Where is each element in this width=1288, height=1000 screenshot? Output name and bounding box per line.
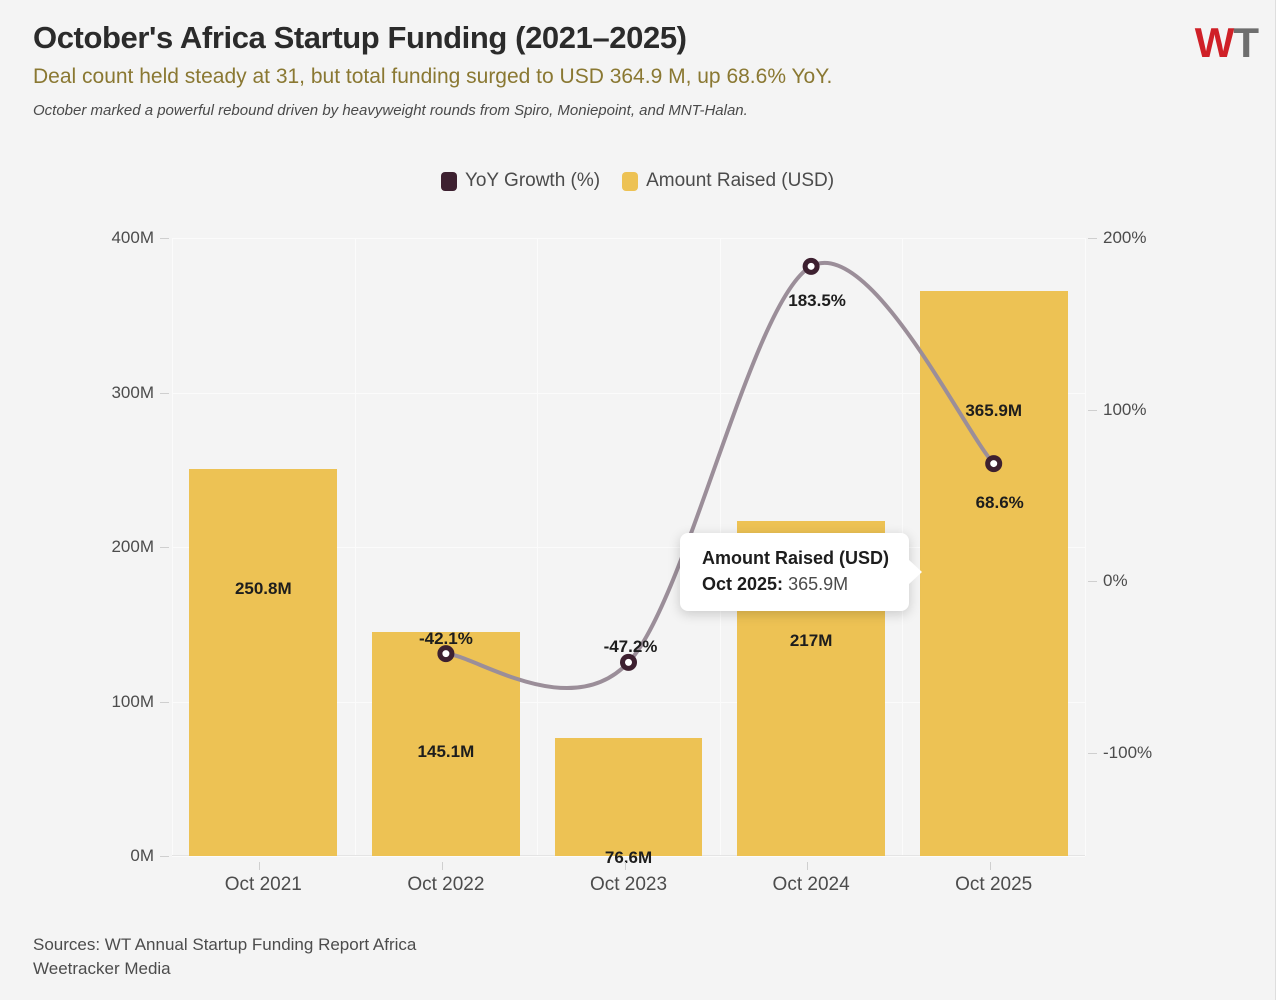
x-axis-tick-mark xyxy=(625,862,626,870)
legend-label: Amount Raised (USD) xyxy=(646,170,834,192)
y-axis-left-tick: 100M xyxy=(34,692,154,712)
chart-legend: YoY Growth (%) Amount Raised (USD) xyxy=(0,170,1275,192)
chart-header: October's Africa Startup Funding (2021–2… xyxy=(33,20,1093,120)
logo-letter-t: T xyxy=(1233,19,1258,66)
y-axis-right-tick-mark xyxy=(1088,753,1097,754)
bar-value-label: 365.9M xyxy=(965,401,1022,421)
y-axis-right-tick: 200% xyxy=(1103,228,1223,248)
y-axis-left-tick-mark xyxy=(160,238,169,239)
tooltip-series-label: Oct 2025: xyxy=(702,574,783,594)
y-axis-right-tick-mark xyxy=(1088,581,1097,582)
x-axis-tick-oct-2024: Oct 2024 xyxy=(773,874,850,896)
legend-swatch-icon xyxy=(622,172,638,191)
gridline-vertical xyxy=(1085,238,1086,856)
bar-oct-2021[interactable] xyxy=(189,469,337,856)
chart-tooltip: Amount Raised (USD) Oct 2025: 365.9M xyxy=(680,533,909,611)
bar-value-label: 217M xyxy=(790,631,833,651)
x-axis-tick-mark xyxy=(259,862,260,870)
y-axis-left-tick-mark xyxy=(160,702,169,703)
tooltip-value-row: Oct 2025: 365.9M xyxy=(702,572,889,596)
chart-subtitle: Deal count held steady at 31, but total … xyxy=(33,63,1093,90)
tooltip-value: 365.9M xyxy=(788,574,848,594)
y-axis-right-tick: -100% xyxy=(1103,743,1223,763)
line-marker[interactable] xyxy=(623,656,635,668)
y-axis-left-tick: 0M xyxy=(34,846,154,866)
y-axis-left-tick-mark xyxy=(160,547,169,548)
x-axis-tick-mark xyxy=(807,862,808,870)
y-axis-right-tick-mark xyxy=(1088,238,1097,239)
y-axis-right-tick-mark xyxy=(1088,410,1097,411)
chart-note: October marked a powerful rebound driven… xyxy=(33,101,1093,121)
legend-swatch-icon xyxy=(441,172,457,191)
tooltip-arrow-icon xyxy=(908,559,922,585)
x-axis-tick-oct-2025: Oct 2025 xyxy=(955,874,1032,896)
plot-area: 250.8M145.1M76.6M217M365.9M-42.1%-47.2%1… xyxy=(172,238,1085,856)
bar-oct-2025[interactable] xyxy=(920,291,1068,856)
sources-line-1: Sources: WT Annual Startup Funding Repor… xyxy=(33,933,416,958)
y-axis-left-tick: 200M xyxy=(34,537,154,557)
x-axis-tick-mark xyxy=(442,862,443,870)
line-value-label: -47.2% xyxy=(604,637,658,657)
chart-sources: Sources: WT Annual Startup Funding Repor… xyxy=(33,933,416,982)
y-axis-left-tick: 300M xyxy=(34,383,154,403)
bar-oct-2023[interactable] xyxy=(555,738,703,856)
legend-item-yoy-growth[interactable]: YoY Growth (%) xyxy=(441,170,600,192)
y-axis-right-tick: 100% xyxy=(1103,400,1223,420)
legend-item-amount-raised[interactable]: Amount Raised (USD) xyxy=(622,170,834,192)
gridline-vertical xyxy=(172,238,173,856)
bar-value-label: 76.6M xyxy=(605,848,652,868)
logo-letter-w: W xyxy=(1195,19,1234,66)
y-axis-left-tick-mark xyxy=(160,393,169,394)
y-axis-right-tick: 0% xyxy=(1103,571,1223,591)
bar-value-label: 250.8M xyxy=(235,579,292,599)
gridline-horizontal xyxy=(172,238,1085,239)
right-edge-scrollbar[interactable] xyxy=(1275,0,1288,1000)
x-axis-tick-oct-2021: Oct 2021 xyxy=(225,874,302,896)
gridline-vertical xyxy=(537,238,538,856)
x-axis-tick-mark xyxy=(990,862,991,870)
bar-value-label: 145.1M xyxy=(418,742,475,762)
line-value-label: 68.6% xyxy=(976,493,1024,513)
line-marker[interactable] xyxy=(805,260,817,272)
gridline-vertical xyxy=(355,238,356,856)
wt-logo: WT xyxy=(1195,22,1258,64)
x-axis-tick-oct-2022: Oct 2022 xyxy=(407,874,484,896)
line-value-label: -42.1% xyxy=(419,629,473,649)
y-axis-left-tick-mark xyxy=(160,856,169,857)
tooltip-title: Amount Raised (USD) xyxy=(702,546,889,570)
legend-label: YoY Growth (%) xyxy=(465,170,600,192)
x-axis-tick-oct-2023: Oct 2023 xyxy=(590,874,667,896)
chart-canvas: October's Africa Startup Funding (2021–2… xyxy=(0,0,1288,1000)
sources-line-2: Weetracker Media xyxy=(33,957,416,982)
chart-title: October's Africa Startup Funding (2021–2… xyxy=(33,20,1093,57)
y-axis-left-tick: 400M xyxy=(34,228,154,248)
line-value-label: 183.5% xyxy=(788,291,846,311)
